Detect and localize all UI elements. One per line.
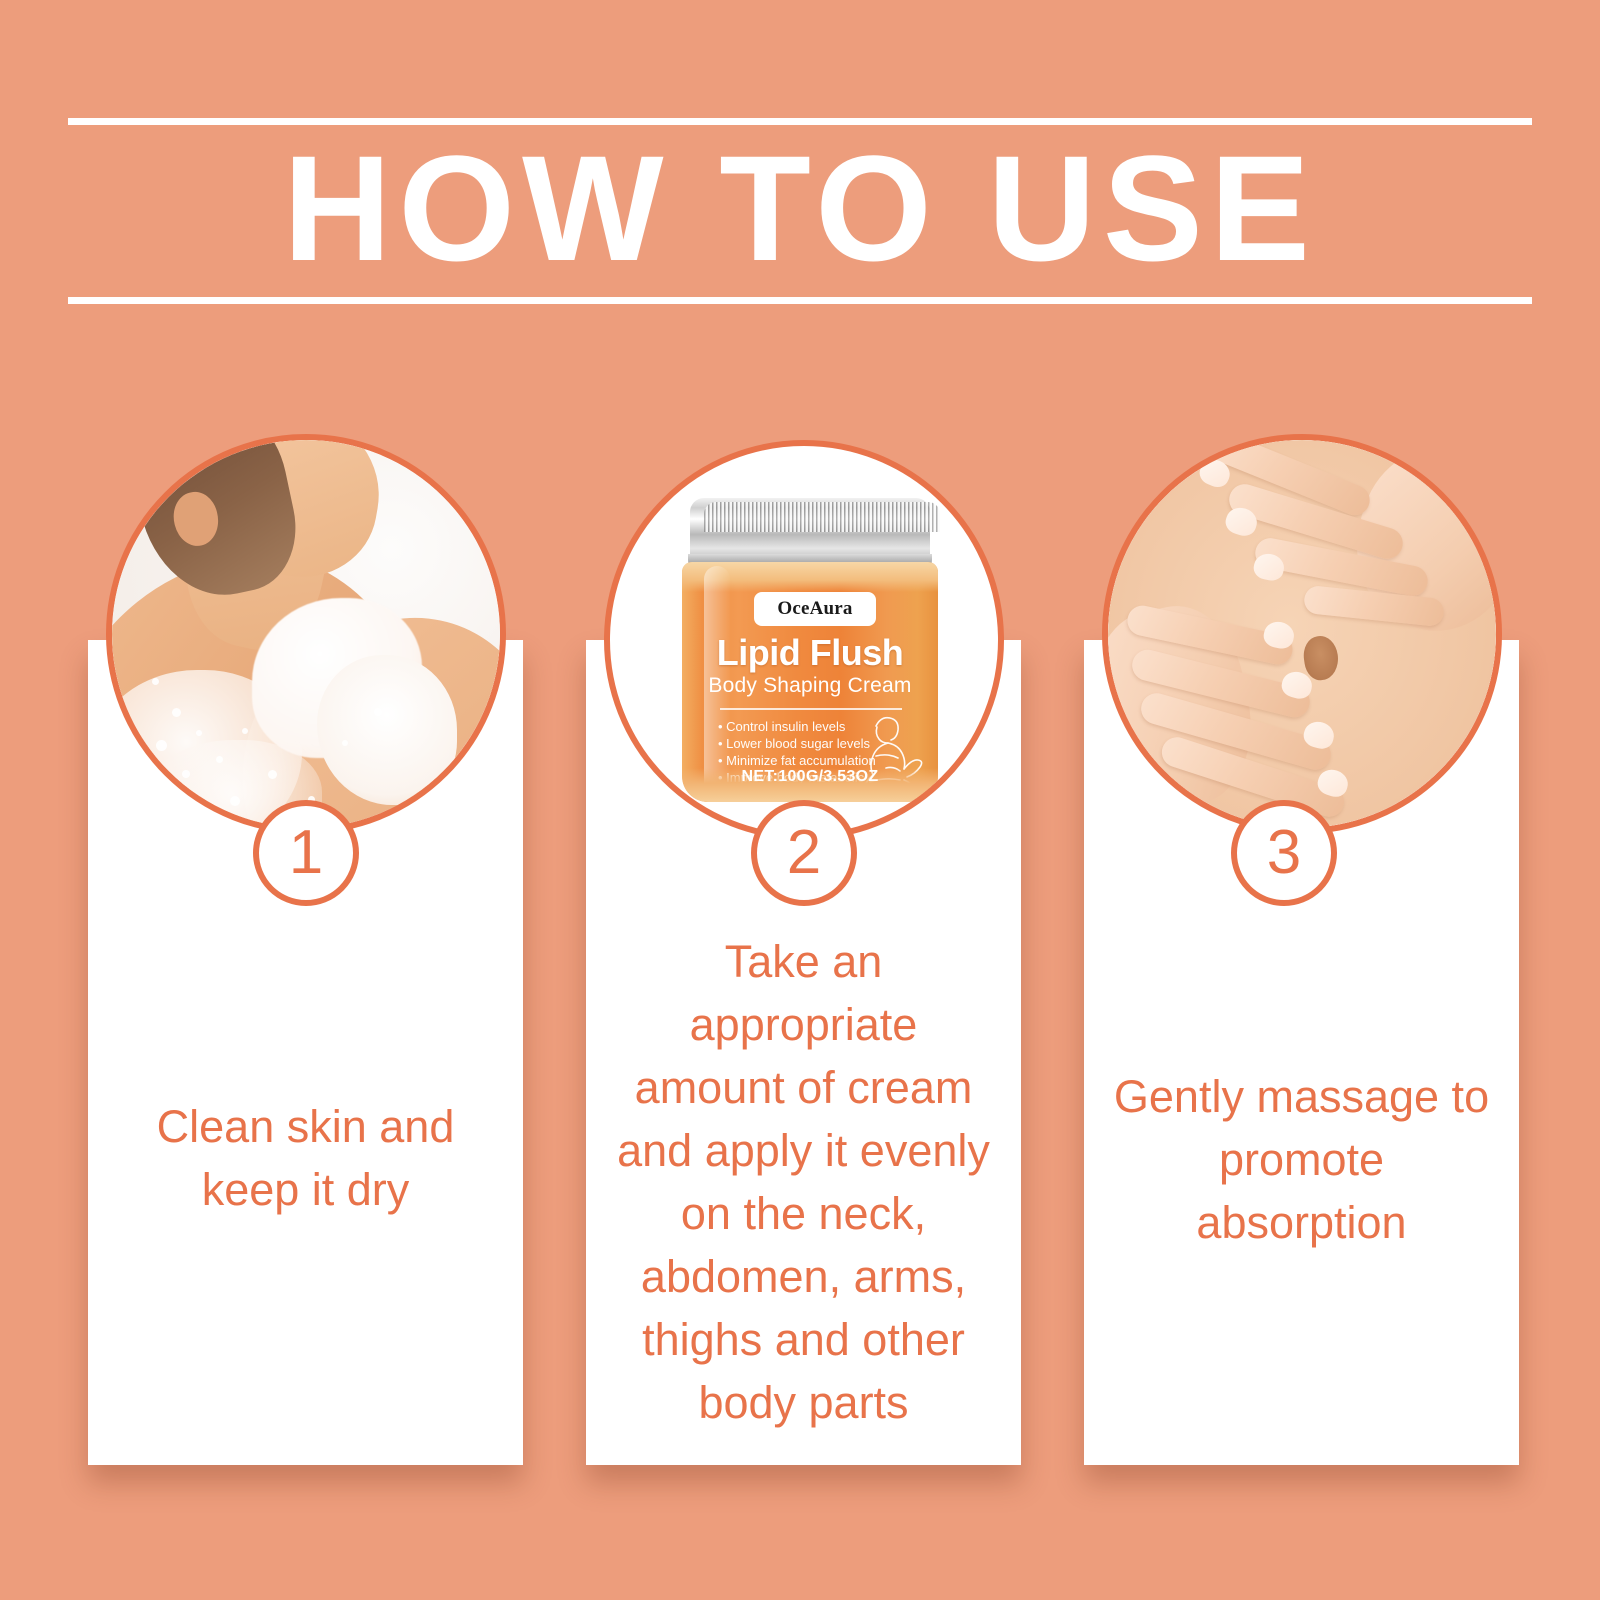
- hands-massaging-abdomen-photo: [1108, 440, 1496, 828]
- product-net-weight: NET:100G/3.53OZ: [682, 768, 938, 786]
- product-subtitle: Body Shaping Cream: [682, 674, 938, 698]
- step-image-3: [1102, 434, 1502, 834]
- step-caption-3: Gently massage to promote absorption: [1110, 1065, 1493, 1254]
- step-caption-2: Take an appropriate amount of cream and …: [612, 930, 995, 1434]
- step-image-2: OceAura Lipid Flush Body Shaping Cream •…: [604, 440, 1004, 840]
- step-badge-2: 2: [751, 800, 857, 906]
- woman-washing-back-with-foam-photo: [112, 440, 500, 828]
- product-name: Lipid Flush: [682, 632, 938, 674]
- step-image-1: [106, 434, 506, 834]
- steps-container: Clean skin and keep it dry Take an appro…: [0, 0, 1600, 1600]
- step-badge-1: 1: [253, 800, 359, 906]
- product-brand-chip: OceAura: [754, 592, 876, 626]
- jar-body: OceAura Lipid Flush Body Shaping Cream •…: [682, 562, 938, 802]
- product-brand: OceAura: [777, 598, 852, 620]
- product-jar-photo: OceAura Lipid Flush Body Shaping Cream •…: [610, 446, 998, 834]
- step-caption-1: Clean skin and keep it dry: [114, 1095, 497, 1221]
- product-jar: OceAura Lipid Flush Body Shaping Cream •…: [678, 498, 942, 808]
- step-badge-3: 3: [1231, 800, 1337, 906]
